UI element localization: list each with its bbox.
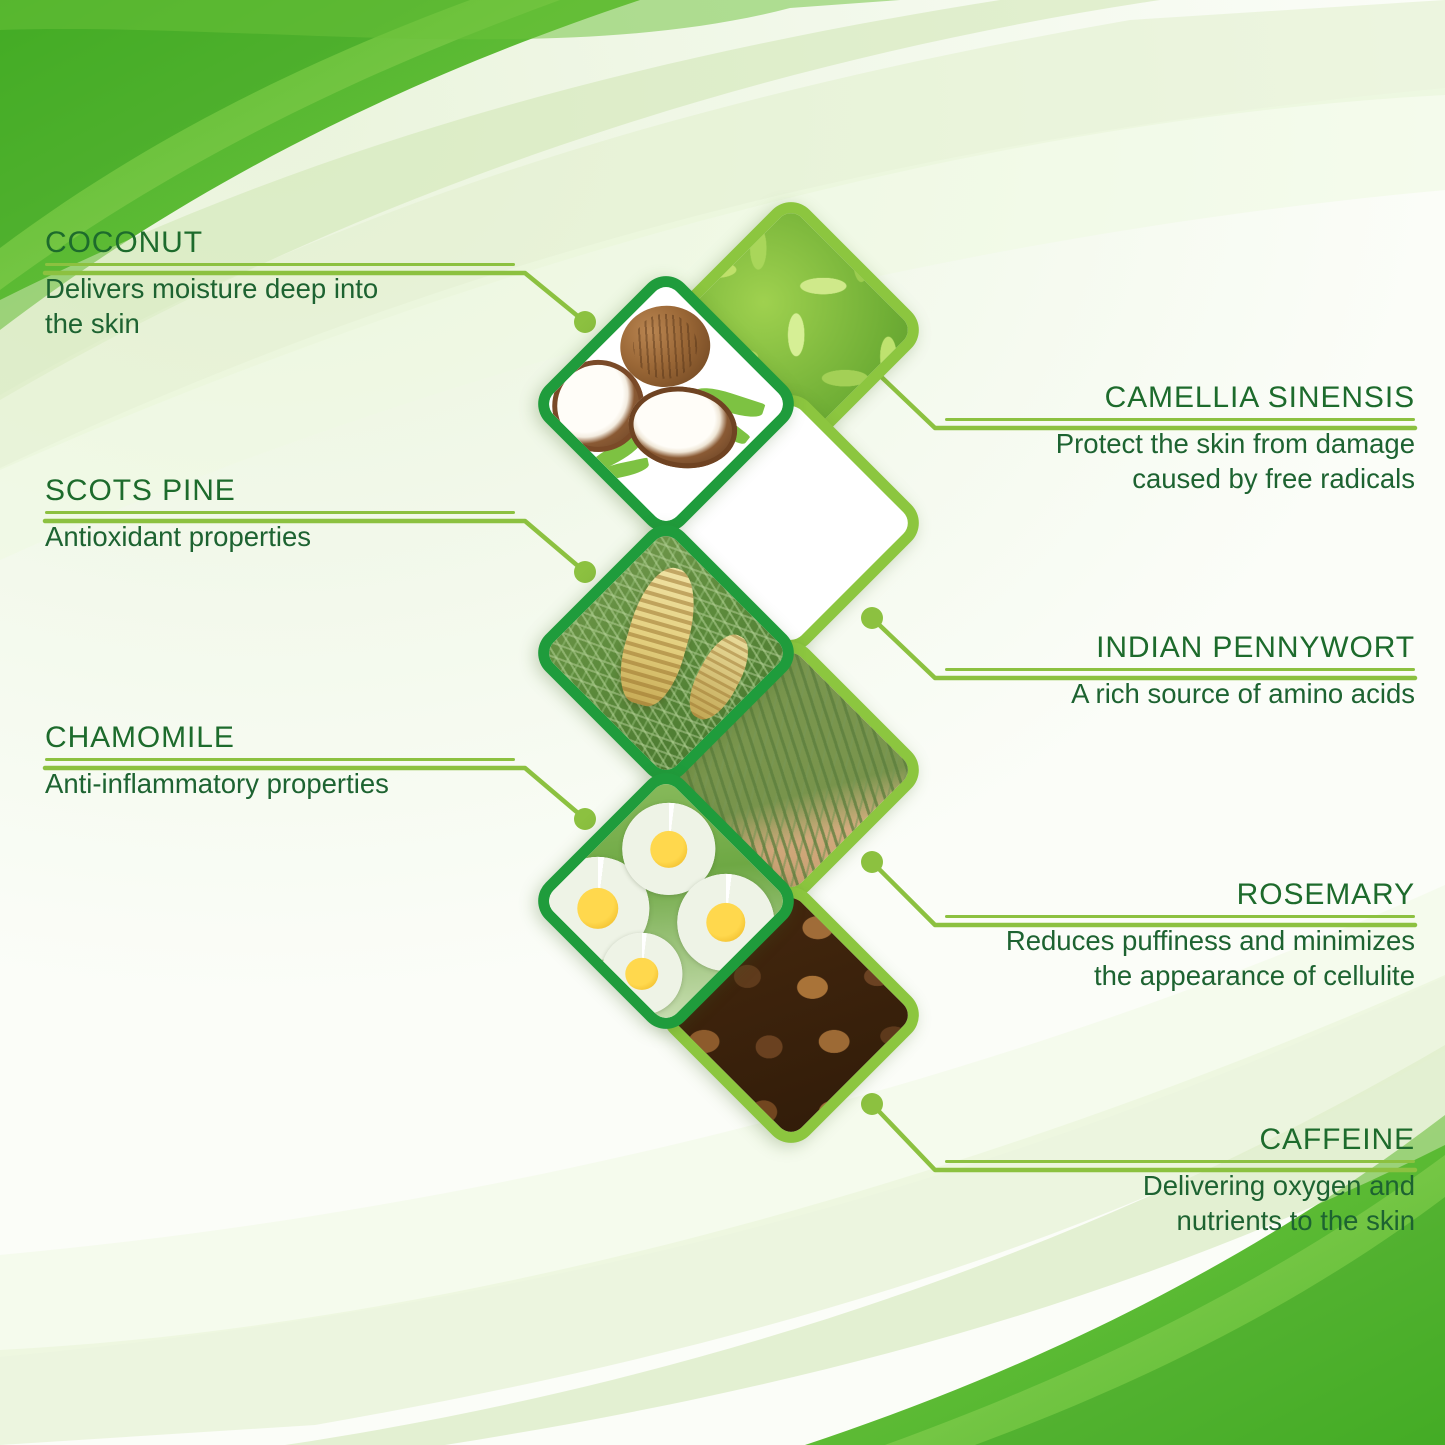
connector-dot-scotspine [574,561,596,583]
ingredient-description: A rich source of amino acids [945,676,1415,711]
title-underline [945,668,1415,671]
title-underline [945,915,1415,918]
title-underline [45,758,515,761]
ingredient-title: CAFFEINE [945,1124,1415,1156]
ingredient-description: Anti-inflammatory properties [45,766,515,801]
ingredient-title: INDIAN PENNYWORT [945,632,1415,664]
label-coconut: COCONUT Delivers moisture deep into the … [45,227,515,341]
ingredient-description: Protect the skin from damage caused by f… [945,426,1415,496]
ingredient-title: COCONUT [45,227,515,259]
label-chamomile: CHAMOMILE Anti-inflammatory properties [45,722,515,801]
infographic-canvas: COCONUT Delivers moisture deep into the … [0,0,1445,1445]
label-scots-pine: SCOTS PINE Antioxidant properties [45,475,515,554]
title-underline [945,418,1415,421]
label-caffeine: CAFFEINE Delivering oxygen and nutrients… [945,1124,1415,1238]
connector-dot-coconut [574,311,596,333]
connector-dot-caffeine [861,1093,883,1115]
ingredient-description: Delivers moisture deep into the skin [45,271,515,341]
label-rosemary: ROSEMARY Reduces puffiness and minimizes… [945,879,1415,993]
label-camellia-sinensis: CAMELLIA SINENSIS Protect the skin from … [945,382,1415,496]
connector-dot-rosemary [861,851,883,873]
ingredient-description: Reduces puffiness and minimizes the appe… [945,923,1415,993]
ingredient-title: CAMELLIA SINENSIS [945,382,1415,414]
label-indian-pennywort: INDIAN PENNYWORT A rich source of amino … [945,632,1415,711]
title-underline [45,263,515,266]
connector-dot-chamomile [574,808,596,830]
ingredient-title: ROSEMARY [945,879,1415,911]
title-underline [45,511,515,514]
connector-dot-pennywort [861,607,883,629]
ingredient-description: Delivering oxygen and nutrients to the s… [945,1168,1415,1238]
title-underline [945,1160,1415,1163]
ingredient-title: CHAMOMILE [45,722,515,754]
ingredient-title: SCOTS PINE [45,475,515,507]
ingredient-description: Antioxidant properties [45,519,515,554]
